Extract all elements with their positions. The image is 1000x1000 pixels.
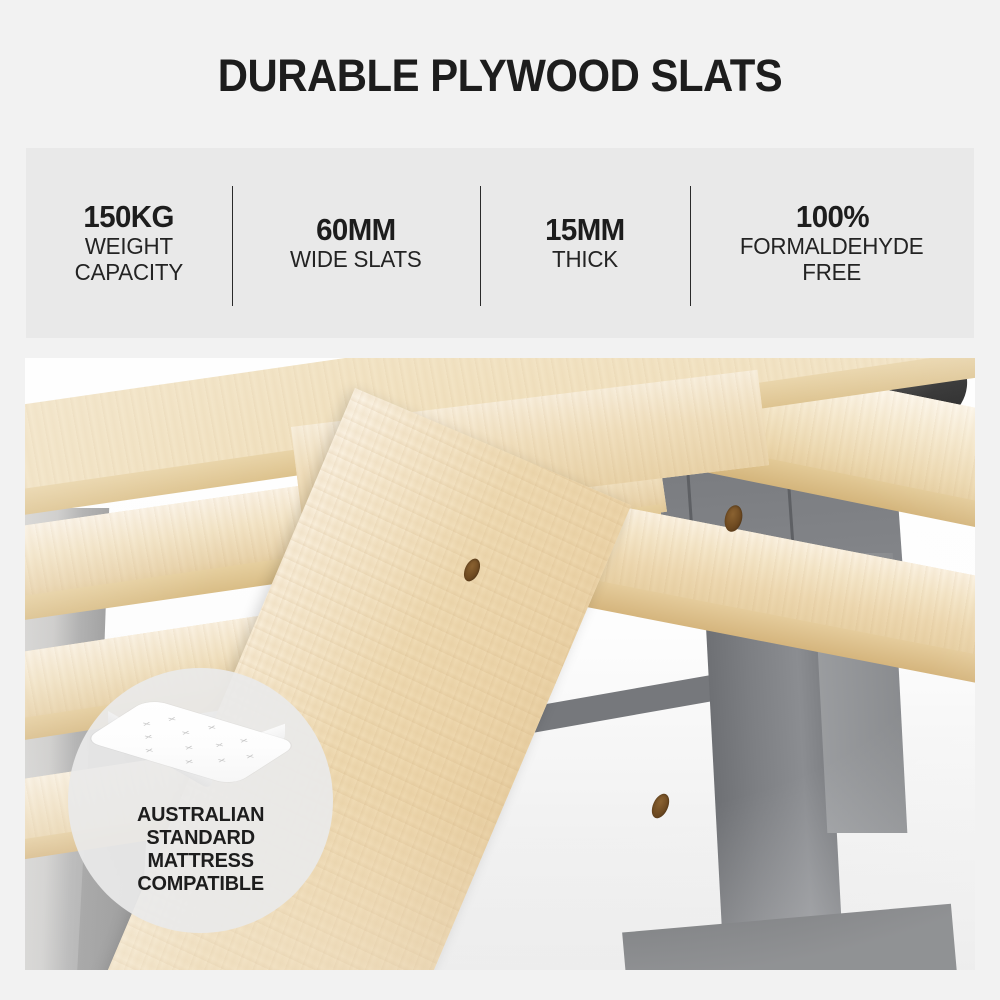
stat-item-thickness: 15MM THICK	[480, 148, 690, 338]
stat-value: 15MM	[545, 213, 625, 246]
stats-strip: 150KG WEIGHT CAPACITY 60MM WIDE SLATS 15…	[26, 148, 974, 338]
mattress-icon: + + + + + + + + + + + +	[106, 696, 296, 792]
stat-label: WEIGHT CAPACITY	[75, 234, 183, 286]
stat-value: 100%	[795, 200, 868, 233]
page-title: DURABLE PLYWOOD SLATS	[35, 50, 965, 102]
mattress-compatible-badge: + + + + + + + + + + + + AUSTRALIAN STAND…	[68, 668, 333, 933]
stat-label: WIDE SLATS	[290, 247, 422, 273]
stat-label: THICK	[552, 247, 618, 273]
stat-value: 60MM	[316, 213, 396, 246]
stat-item-formaldehyde-free: 100% FORMALDEHYDE FREE	[690, 148, 974, 338]
stat-item-wide-slats: 60MM WIDE SLATS	[232, 148, 480, 338]
stat-value: 150KG	[84, 200, 174, 233]
stat-label: FORMALDEHYDE FREE	[740, 234, 924, 286]
badge-label: AUSTRALIAN STANDARD MATTRESS COMPATIBLE	[137, 804, 264, 896]
mattress-top-surface: + + + + + + + + + + + +	[83, 699, 299, 786]
stat-item-weight-capacity: 150KG WEIGHT CAPACITY	[26, 148, 232, 338]
